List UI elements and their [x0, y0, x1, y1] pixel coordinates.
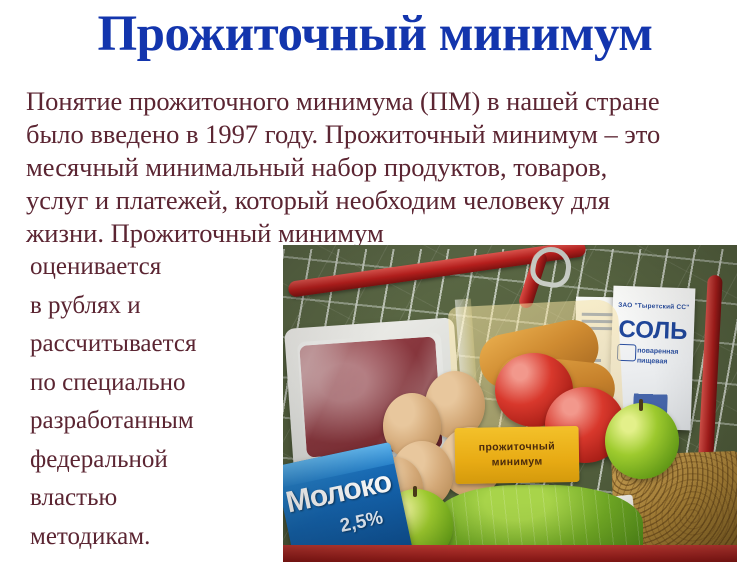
apple-stem-2: [413, 486, 417, 497]
price-label-line-1: прожиточный: [479, 439, 556, 455]
intro-paragraph: Понятие прожиточного минимума (ПМ) в наш…: [26, 85, 726, 250]
basket-rim-bottom: [283, 545, 737, 562]
salt-subtitle: поваренная пищевая: [637, 346, 692, 368]
intro-line-2: было введено в 1997 году. Прожиточный ми…: [26, 118, 726, 151]
left-line-1: оценивается: [30, 248, 278, 287]
apple-stem-1: [639, 399, 643, 411]
page-title: Прожиточный минимум: [0, 8, 750, 62]
left-line-3: рассчитывается: [30, 325, 278, 364]
left-line-4: по специально: [30, 364, 278, 403]
milk-fat-label: 2,5%: [338, 507, 385, 538]
left-line-2: в рублях и: [30, 287, 278, 326]
left-column-text: оценивается в рублях и рассчитывается по…: [30, 248, 278, 556]
salt-name-label: СОЛЬ: [611, 316, 694, 347]
left-line-7: властью: [30, 479, 278, 518]
left-line-8: методикам.: [30, 518, 278, 557]
intro-line-1: Понятие прожиточного минимума (ПМ) в наш…: [26, 85, 726, 118]
salt-brand-label: ЗАО "Тыретский СС": [613, 302, 695, 312]
price-label-line-2: минимум: [492, 455, 543, 471]
intro-line-3: месячный минимальный набор продуктов, то…: [26, 151, 726, 184]
grocery-basket-photo: ЗАО "Тыретский СС" СОЛЬ поваренная пищев…: [283, 245, 737, 562]
intro-line-4: услуг и платежей, который необходим чело…: [26, 184, 726, 217]
left-line-6: федеральной: [30, 441, 278, 480]
left-line-5: разработанным: [30, 402, 278, 441]
price-label: прожиточный минимум: [455, 426, 580, 484]
salt-subtitle-line-2: пищевая: [637, 356, 691, 368]
presentation-slide: Прожиточный минимум Понятие прожиточного…: [0, 0, 750, 562]
green-apple-1: [605, 403, 679, 479]
